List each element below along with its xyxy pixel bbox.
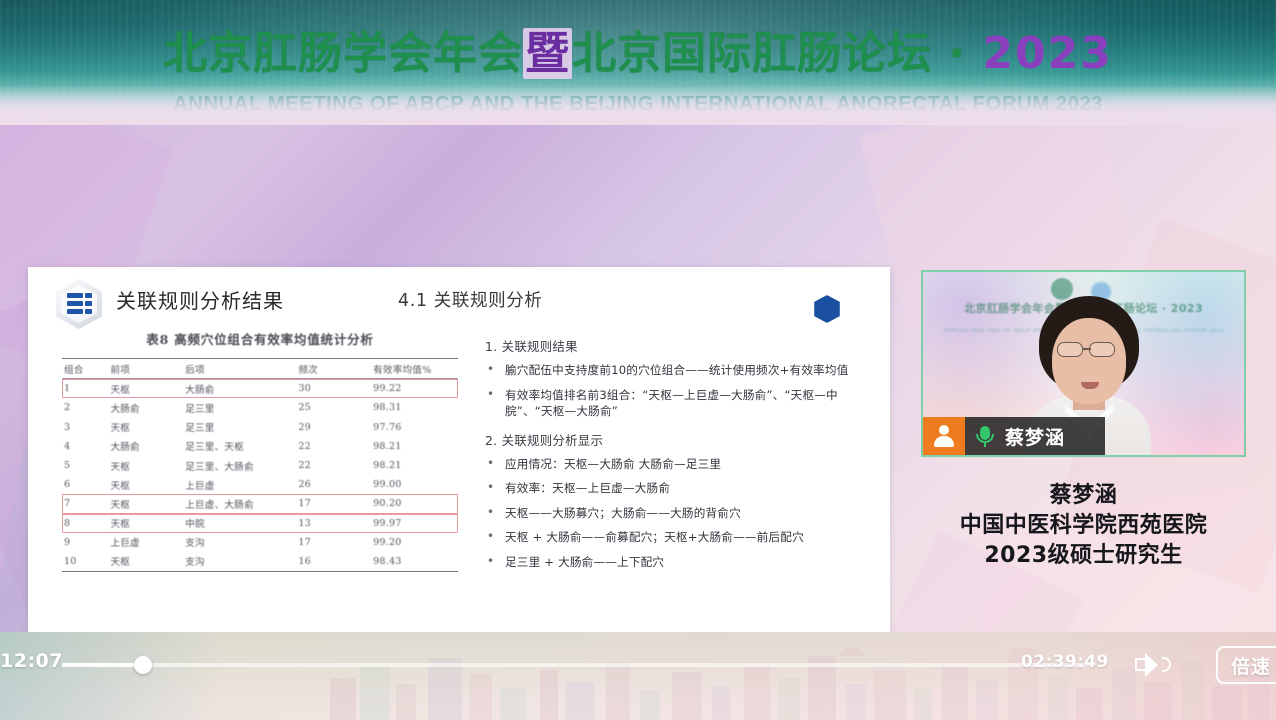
table-row: 9 上巨虚 支沟 17 99.20 [62,533,458,552]
slide-section-label: 4.1 关联规则分析 [398,287,542,312]
table-row: 4 大肠俞 足三里、天枢 22 98.21 [62,437,458,456]
table-row: 1 天枢 大肠俞 30 99.22 [62,379,458,399]
banner-title: 北京肛肠学会年会暨北京国际肛肠论坛 · 2023 [0,22,1276,86]
table-cell: 97.76 [371,418,458,437]
table-cell: 16 [296,552,371,572]
table-row: 7 天枢 上巨虚、大肠俞 17 90.20 [62,494,458,513]
table-cell: 天枢 [108,514,183,533]
speaker-name-strip: 蔡梦涵 [923,417,1105,455]
event-banner: 北京肛肠学会年会暨北京国际肛肠论坛 · 2023 ANNUAL MEETING … [0,0,1276,125]
table-row: 3 天枢 足三里 29 97.76 [62,418,458,437]
table-row: 5 天枢 足三里、大肠俞 22 98.21 [62,456,458,475]
speaker-role: 2023级硕士研究生 [921,541,1246,571]
table-block: 表8 高频穴位组合有效率均值统计分析 组合 前项 后项 频次 有效率均值% 1 … [50,329,470,572]
table-header-cell: 频次 [296,359,371,379]
bullet-item: 腧穴配伍中支持度前10的穴位组合——统计使用频次+有效率均值 [483,362,875,379]
person-icon [923,417,965,455]
table-cell: 足三里 [183,418,296,437]
table-cell: 天枢 [108,456,183,475]
bullet-item: 有效率均值排名前3组合：“天枢—上巨虚—大肠俞”、“天枢—中脘”、“天枢—大肠俞… [483,387,875,420]
bullet-item: 天枢——大肠募穴；大肠俞——大肠的背俞穴 [483,505,875,522]
table-cell: 上巨虚 [108,533,183,552]
bullet-item: 应用情况：天枢—大肠俞 大肠俞—足三里 [483,456,875,473]
microphone-icon [972,423,998,449]
table-cell: 天枢 [108,552,183,572]
banner-title-part2: 北京国际肛肠论坛 · [572,28,982,79]
speaker-name-label: 蔡梦涵 [1005,423,1065,450]
table-cell: 22 [296,437,371,456]
current-time-label: 12:07 [0,650,63,672]
player-control-bar: 12:07 02:39:49 倍速 [0,632,1276,720]
slide-title: 关联规则分析结果 [116,285,284,314]
table-cell: 90.20 [371,494,458,513]
speaker-video-tile[interactable]: 北京肛肠学会年会暨北京国际肛肠论坛 · 2023 ANNUAL MEETING … [921,270,1246,457]
table-cell: 98.31 [371,398,458,417]
table-header-cell: 有效率均值% [371,359,458,379]
table-cell: 天枢 [108,418,183,437]
bullet-item: 有效率：天枢—上巨虚—大肠俞 [483,480,875,497]
bullet-item: 足三里 + 大肠俞——上下配穴 [483,554,875,571]
table-cell: 支沟 [183,533,296,552]
speaker-info: 蔡梦涵 中国中医科学院西苑医院 2023级硕士研究生 [921,481,1246,571]
progress-handle[interactable] [134,656,152,674]
bullet-item: 天枢 + 大肠俞——俞募配穴；天枢+大肠俞——前后配穴 [483,529,875,546]
table-cell: 大肠俞 [108,437,183,456]
table-cell: 7 [62,494,108,513]
table-cell: 99.97 [371,514,458,533]
table-cell: 25 [296,398,371,417]
banner-title-highlight: 暨 [523,28,572,79]
table-cell: 上巨虚、大肠俞 [183,494,296,513]
table-cell: 99.20 [371,533,458,552]
database-hex-icon [56,279,102,329]
table-cell: 98.43 [371,552,458,572]
table-cell: 2 [62,398,108,417]
banner-title-part1: 北京肛肠学会年会 [163,28,523,79]
table-cell: 26 [296,475,371,494]
table-cell: 支沟 [183,552,296,572]
slide-header: 关联规则分析结果 4.1 关联规则分析 [28,267,890,329]
table-cell: 22 [296,456,371,475]
blue-hexagon-icon [814,295,840,323]
table-cell: 足三里 [183,398,296,417]
playback-speed-button[interactable]: 倍速 [1216,646,1276,684]
frequency-table: 组合 前项 后项 频次 有效率均值% 1 天枢 大肠俞 30 99.22 [62,358,458,572]
table-cell: 99.22 [371,379,458,399]
speaker-volume-icon[interactable] [1133,651,1177,681]
bullet-section-number: 1. 关联规则结果 [485,337,875,355]
table-header-cell: 组合 [62,359,108,379]
table-row: 2 大肠俞 足三里 25 98.31 [62,398,458,417]
table-cell: 中脘 [183,514,296,533]
table-cell: 98.21 [371,437,458,456]
table-caption: 表8 高频穴位组合有效率均值统计分析 [50,329,470,348]
stage-background: 关联规则分析结果 4.1 关联规则分析 表8 高频穴位组合有效率均值统计分析 组… [0,125,1276,720]
banner-title-year: 2023 [982,28,1112,79]
table-row: 10 天枢 支沟 16 98.43 [62,552,458,572]
table-header-cell: 后项 [183,359,296,379]
table-row: 6 天枢 上巨虚 26 99.00 [62,475,458,494]
table-cell: 足三里、天枢 [183,437,296,456]
player-gradient-overlay [0,632,1276,720]
table-cell: 天枢 [108,494,183,513]
table-cell: 5 [62,456,108,475]
table-cell: 98.21 [371,456,458,475]
table-cell: 17 [296,533,371,552]
table-cell: 30 [296,379,371,399]
table-cell: 天枢 [108,379,183,399]
table-row: 8 天枢 中脘 13 99.97 [62,514,458,533]
bullet-panel: 1. 关联规则结果 腧穴配伍中支持度前10的穴位组合——统计使用频次+有效率均值… [483,337,875,578]
table-cell: 17 [296,494,371,513]
progress-fill [62,663,144,667]
speaker-name: 蔡梦涵 [921,481,1246,511]
table-cell: 大肠俞 [183,379,296,399]
table-body: 1 天枢 大肠俞 30 99.22 2 大肠俞 足三里 25 98.31 [62,379,458,572]
total-time-label: 02:39:49 [1021,652,1109,672]
table-cell: 足三里、大肠俞 [183,456,296,475]
table-cell: 99.00 [371,475,458,494]
banner-fade [0,85,1276,125]
table-cell: 4 [62,437,108,456]
table-cell: 1 [62,379,108,399]
table-header-row: 组合 前项 后项 频次 有效率均值% [62,359,458,379]
table-cell: 大肠俞 [108,398,183,417]
table-cell: 天枢 [108,475,183,494]
table-cell: 29 [296,418,371,437]
speaker-affiliation: 中国中医科学院西苑医院 [921,511,1246,541]
table-header-cell: 前项 [108,359,183,379]
table-cell: 上巨虚 [183,475,296,494]
table-cell: 10 [62,552,108,572]
video-player-page: 北京肛肠学会年会暨北京国际肛肠论坛 · 2023 ANNUAL MEETING … [0,0,1276,720]
bullet-section-number: 2. 关联规则分析显示 [485,431,875,449]
table-cell: 13 [296,514,371,533]
table-cell: 3 [62,418,108,437]
progress-scrubber[interactable] [62,663,1090,667]
table-cell: 9 [62,533,108,552]
table-cell: 6 [62,475,108,494]
table-cell: 8 [62,514,108,533]
